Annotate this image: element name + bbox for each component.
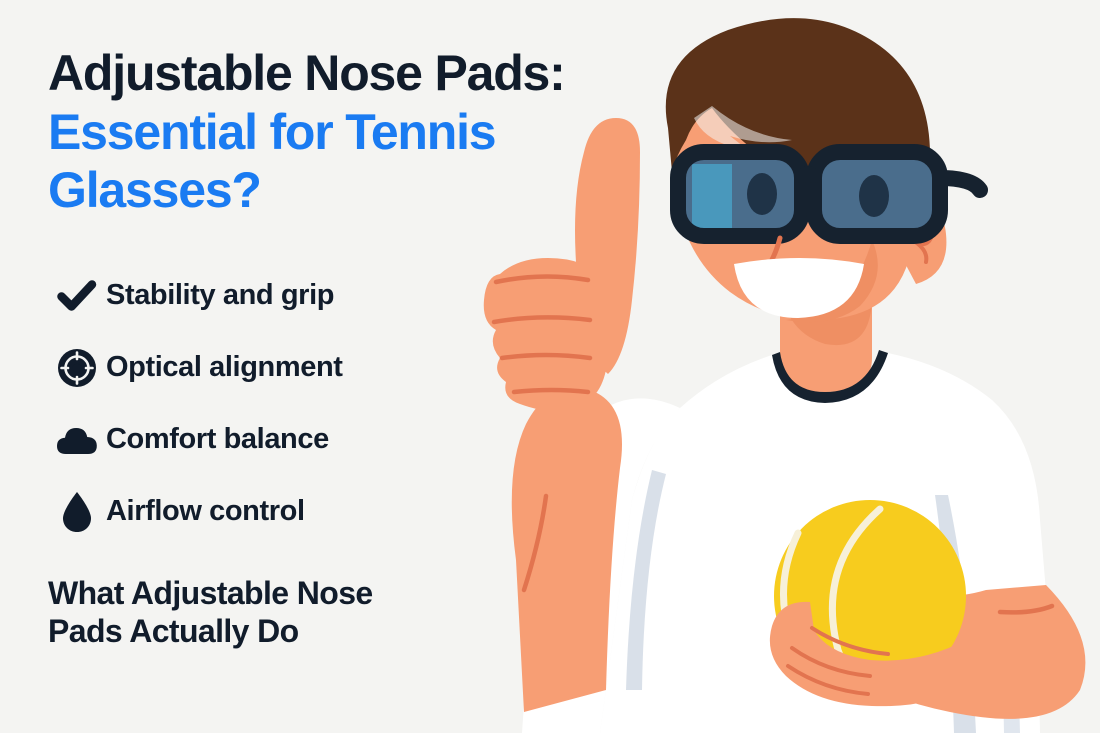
subheading-line-2: Pads Actually Do <box>48 613 299 649</box>
left-lens <box>678 152 802 236</box>
thumbs-up-hand <box>484 118 640 411</box>
droplet-icon <box>48 491 106 533</box>
list-item-label: Stability and grip <box>106 279 334 312</box>
nose-bridge <box>802 173 814 176</box>
list-item-label: Optical alignment <box>106 351 343 384</box>
headline-line-3: Glasses? <box>48 162 261 218</box>
subheading-line-1: What Adjustable Nose <box>48 575 373 611</box>
sunglasses-group <box>678 152 980 236</box>
section-subheading: What Adjustable Nose Pads Actually Do <box>48 574 518 651</box>
check-icon <box>48 279 106 313</box>
list-item-label: Comfort balance <box>106 423 329 456</box>
hero-illustration <box>480 0 1100 733</box>
right-lens <box>814 152 940 236</box>
cloud-icon <box>48 424 106 456</box>
poster-canvas: Adjustable Nose Pads: Essential for Tenn… <box>0 0 1100 733</box>
crosshair-icon <box>48 348 106 388</box>
list-item-label: Airflow control <box>106 495 305 528</box>
headline-line-2: Essential for Tennis <box>48 104 495 160</box>
